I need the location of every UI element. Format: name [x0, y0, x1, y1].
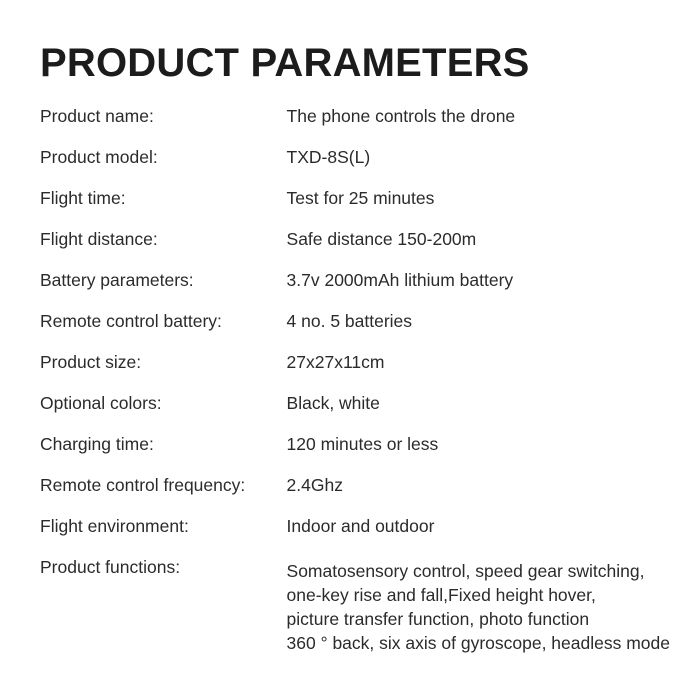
- table-row: Battery parameters: 3.7v 2000mAh lithium…: [40, 272, 670, 313]
- spec-label: Remote control frequency:: [40, 477, 287, 518]
- spec-value-product-functions: Somatosensory control, speed gear switch…: [287, 559, 670, 655]
- spec-value: Indoor and outdoor: [287, 518, 670, 559]
- page-title: PRODUCT PARAMETERS: [40, 0, 670, 84]
- table-row: Product size: 27x27x11cm: [40, 354, 670, 395]
- spec-label: Remote control battery:: [40, 313, 287, 354]
- spec-label: Product size:: [40, 354, 287, 395]
- product-function-line: one-key rise and fall,Fixed height hover…: [287, 583, 670, 607]
- spec-value: 120 minutes or less: [287, 436, 670, 477]
- spec-value: TXD-8S(L): [287, 149, 670, 190]
- spec-label: Optional colors:: [40, 395, 287, 436]
- table-row: Charging time: 120 minutes or less: [40, 436, 670, 477]
- spec-value: Test for 25 minutes: [287, 190, 670, 231]
- specifications-table-body: Product name: The phone controls the dro…: [40, 108, 670, 655]
- table-row: Remote control battery: 4 no. 5 batterie…: [40, 313, 670, 354]
- table-row: Remote control frequency: 2.4Ghz: [40, 477, 670, 518]
- product-function-line: Somatosensory control, speed gear switch…: [287, 559, 670, 583]
- spec-value: The phone controls the drone: [287, 108, 670, 149]
- product-functions-lines: Somatosensory control, speed gear switch…: [287, 559, 670, 655]
- table-row: Flight distance: Safe distance 150-200m: [40, 231, 670, 272]
- spec-label: Product functions:: [40, 559, 287, 655]
- spec-label: Charging time:: [40, 436, 287, 477]
- table-row: Optional colors: Black, white: [40, 395, 670, 436]
- spec-value: 27x27x11cm: [287, 354, 670, 395]
- spec-label: Flight time:: [40, 190, 287, 231]
- product-function-line: picture transfer function, photo functio…: [287, 607, 670, 631]
- product-parameters-sheet: PRODUCT PARAMETERS Product name: The pho…: [0, 0, 700, 700]
- spec-label: Flight environment:: [40, 518, 287, 559]
- spec-value: 2.4Ghz: [287, 477, 670, 518]
- spec-label: Flight distance:: [40, 231, 287, 272]
- spec-value: 4 no. 5 batteries: [287, 313, 670, 354]
- spec-label: Product name:: [40, 108, 287, 149]
- spec-label: Product model:: [40, 149, 287, 190]
- spec-value: 3.7v 2000mAh lithium battery: [287, 272, 670, 313]
- product-function-line: 360 ° back, six axis of gyroscope, headl…: [287, 631, 670, 655]
- spec-value: Black, white: [287, 395, 670, 436]
- table-row: Flight environment: Indoor and outdoor: [40, 518, 670, 559]
- spec-label: Battery parameters:: [40, 272, 287, 313]
- specifications-table: Product name: The phone controls the dro…: [40, 108, 670, 655]
- table-row: Product model: TXD-8S(L): [40, 149, 670, 190]
- table-row-product-functions: Product functions: Somatosensory control…: [40, 559, 670, 655]
- spec-value: Safe distance 150-200m: [287, 231, 670, 272]
- table-row: Flight time: Test for 25 minutes: [40, 190, 670, 231]
- table-row: Product name: The phone controls the dro…: [40, 108, 670, 149]
